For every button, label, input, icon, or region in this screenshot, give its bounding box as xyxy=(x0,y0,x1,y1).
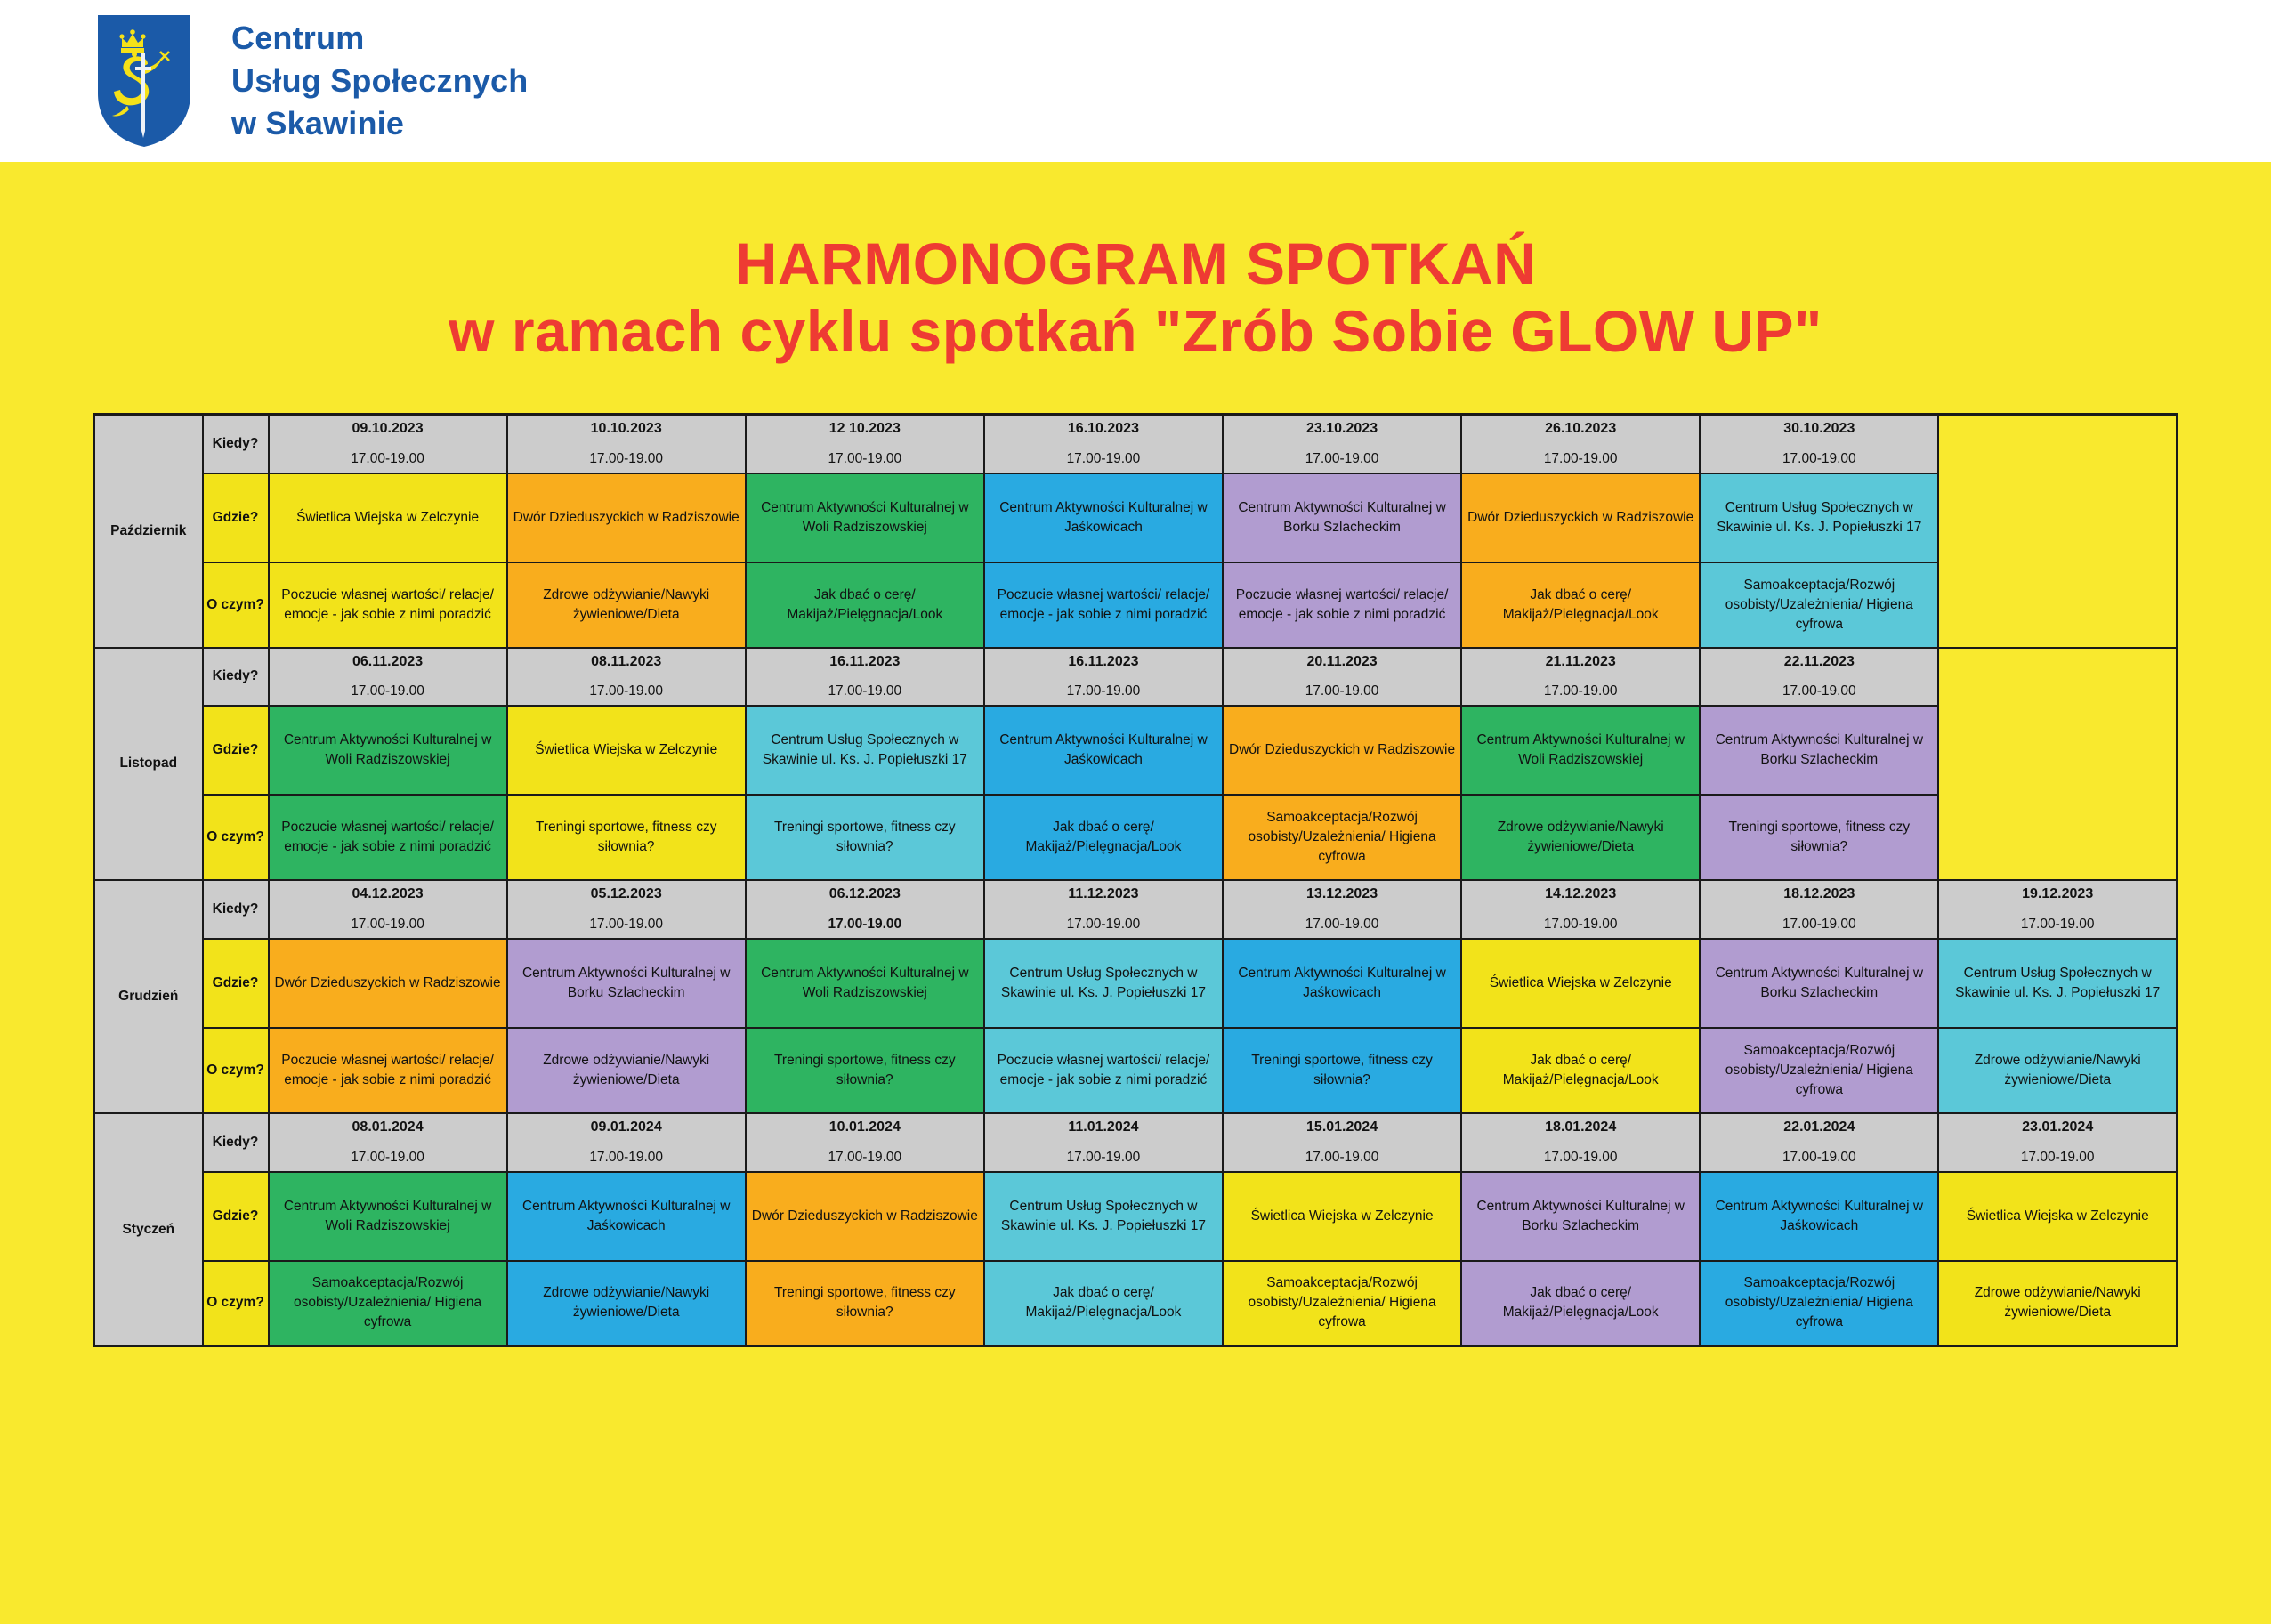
month-row-what: O czym?Poczucie własnej wartości/ relacj… xyxy=(94,795,2178,880)
topic-cell: Treningi sportowe, fitness czy siłownia? xyxy=(507,795,746,880)
date-time-cell: 12 10.202317.00-19.00 xyxy=(746,414,984,473)
date-time-cell: 18.12.202317.00-19.00 xyxy=(1700,880,1938,939)
topic-cell: Samoakceptacja/Rozwój osobisty/Uzależnie… xyxy=(269,1261,507,1346)
date-time-cell: 09.10.202317.00-19.00 xyxy=(269,414,507,473)
topic-cell: Jak dbać o cerę/ Makijaż/Pielęgnacja/Loo… xyxy=(1461,562,1700,648)
date-time-cell: 23.10.202317.00-19.00 xyxy=(1223,414,1461,473)
month-row-where: Gdzie?Centrum Aktywności Kulturalnej w W… xyxy=(94,1172,2178,1261)
topic-cell: Jak dbać o cerę/ Makijaż/Pielęgnacja/Loo… xyxy=(746,562,984,648)
location-cell: Świetlica Wiejska w Zelczynie xyxy=(1461,939,1700,1028)
session-time: 17.00-19.00 xyxy=(1703,1148,1935,1168)
topic-cell: Zdrowe odżywianie/Nawyki żywieniowe/Diet… xyxy=(507,1028,746,1113)
session-time: 17.00-19.00 xyxy=(1703,915,1935,934)
date-time-cell: 11.12.202317.00-19.00 xyxy=(984,880,1223,939)
date-time-cell: 13.12.202317.00-19.00 xyxy=(1223,880,1461,939)
location-cell: Centrum Aktywności Kulturalnej w Borku S… xyxy=(1700,706,1938,795)
session-time: 17.00-19.00 xyxy=(1465,1148,1696,1168)
location-cell: Świetlica Wiejska w Zelczynie xyxy=(507,706,746,795)
session-date: 18.01.2024 xyxy=(1465,1118,1696,1138)
topic-cell: Zdrowe odżywianie/Nawyki żywieniowe/Diet… xyxy=(1461,795,1700,880)
location-cell: Centrum Aktywności Kulturalnej w Woli Ra… xyxy=(269,1172,507,1261)
date-time-cell: 04.12.202317.00-19.00 xyxy=(269,880,507,939)
location-cell: Świetlica Wiejska w Zelczynie xyxy=(1938,1172,2177,1261)
page-header: Centrum Usług Społecznych w Skawinie xyxy=(0,0,2271,162)
topic-cell: Zdrowe odżywianie/Nawyki żywieniowe/Diet… xyxy=(1938,1028,2177,1113)
session-date: 11.12.2023 xyxy=(988,885,1219,905)
location-cell: Centrum Usług Społecznych w Skawinie ul.… xyxy=(746,706,984,795)
topic-cell: Jak dbać o cerę/ Makijaż/Pielęgnacja/Loo… xyxy=(984,1261,1223,1346)
row-label-where: Gdzie? xyxy=(203,706,269,795)
location-cell: Centrum Aktywności Kulturalnej w Borku S… xyxy=(1700,939,1938,1028)
session-date: 08.01.2024 xyxy=(272,1118,504,1138)
month-row-where: Gdzie?Świetlica Wiejska w ZelczynieDwór … xyxy=(94,473,2178,562)
page-title: HARMONOGRAM SPOTKAŃ w ramach cyklu spotk… xyxy=(0,162,2271,367)
topic-cell: Jak dbać o cerę/ Makijaż/Pielęgnacja/Loo… xyxy=(1461,1261,1700,1346)
session-time: 17.00-19.00 xyxy=(988,682,1219,701)
session-time: 17.00-19.00 xyxy=(1703,682,1935,701)
month-row-what: O czym?Poczucie własnej wartości/ relacj… xyxy=(94,1028,2178,1113)
date-time-cell: 11.01.202417.00-19.00 xyxy=(984,1113,1223,1172)
location-cell: Dwór Dzieduszyckich w Radziszowie xyxy=(269,939,507,1028)
date-time-cell: 20.11.202317.00-19.00 xyxy=(1223,648,1461,707)
location-cell: Centrum Usług Społecznych w Skawinie ul.… xyxy=(984,1172,1223,1261)
topic-cell: Poczucie własnej wartości/ relacje/ emoc… xyxy=(984,562,1223,648)
session-date: 15.01.2024 xyxy=(1226,1118,1458,1138)
topic-cell: Jak dbać o cerę/ Makijaż/Pielęgnacja/Loo… xyxy=(984,795,1223,880)
row-label-when: Kiedy? xyxy=(203,414,269,473)
session-date: 06.12.2023 xyxy=(749,885,981,905)
session-date: 26.10.2023 xyxy=(1465,419,1696,440)
empty-filler-cell xyxy=(1938,648,2177,881)
session-date: 16.11.2023 xyxy=(988,652,1219,673)
row-label-where: Gdzie? xyxy=(203,939,269,1028)
session-time: 17.00-19.00 xyxy=(749,449,981,469)
topic-cell: Samoakceptacja/Rozwój osobisty/Uzależnie… xyxy=(1700,1028,1938,1113)
session-date: 14.12.2023 xyxy=(1465,885,1696,905)
topic-cell: Poczucie własnej wartości/ relacje/ emoc… xyxy=(269,1028,507,1113)
location-cell: Centrum Usług Społecznych w Skawinie ul.… xyxy=(984,939,1223,1028)
org-line-3: w Skawinie xyxy=(231,102,528,145)
session-time: 17.00-19.00 xyxy=(749,1148,981,1168)
date-time-cell: 09.01.202417.00-19.00 xyxy=(507,1113,746,1172)
session-date: 22.01.2024 xyxy=(1703,1118,1935,1138)
location-cell: Świetlica Wiejska w Zelczynie xyxy=(269,473,507,562)
session-time: 17.00-19.00 xyxy=(1226,915,1458,934)
location-cell: Centrum Aktywności Kulturalnej w Borku S… xyxy=(507,939,746,1028)
logo-wrap: Centrum Usług Społecznych w Skawinie xyxy=(98,15,528,147)
organization-name: Centrum Usług Społecznych w Skawinie xyxy=(231,17,528,145)
location-cell: Dwór Dzieduszyckich w Radziszowie xyxy=(1223,706,1461,795)
date-time-cell: 16.11.202317.00-19.00 xyxy=(984,648,1223,707)
row-label-when: Kiedy? xyxy=(203,880,269,939)
date-time-cell: 14.12.202317.00-19.00 xyxy=(1461,880,1700,939)
session-time: 17.00-19.00 xyxy=(988,449,1219,469)
session-date: 22.11.2023 xyxy=(1703,652,1935,673)
session-time: 17.00-19.00 xyxy=(511,449,742,469)
session-time: 17.00-19.00 xyxy=(272,682,504,701)
topic-cell: Treningi sportowe, fitness czy siłownia? xyxy=(746,795,984,880)
date-time-cell: 21.11.202317.00-19.00 xyxy=(1461,648,1700,707)
location-cell: Dwór Dzieduszyckich w Radziszowie xyxy=(1461,473,1700,562)
month-row-what: O czym?Samoakceptacja/Rozwój osobisty/Uz… xyxy=(94,1261,2178,1346)
location-cell: Świetlica Wiejska w Zelczynie xyxy=(1223,1172,1461,1261)
session-date: 16.10.2023 xyxy=(988,419,1219,440)
date-time-cell: 22.01.202417.00-19.00 xyxy=(1700,1113,1938,1172)
session-time: 17.00-19.00 xyxy=(511,915,742,934)
date-time-cell: 08.11.202317.00-19.00 xyxy=(507,648,746,707)
session-time: 17.00-19.00 xyxy=(272,1148,504,1168)
location-cell: Centrum Aktywności Kulturalnej w Jaśkowi… xyxy=(507,1172,746,1261)
location-cell: Centrum Aktywności Kulturalnej w Jaśkowi… xyxy=(984,473,1223,562)
date-time-cell: 05.12.202317.00-19.00 xyxy=(507,880,746,939)
topic-cell: Poczucie własnej wartości/ relacje/ emoc… xyxy=(269,562,507,648)
date-time-cell: 19.12.202317.00-19.00 xyxy=(1938,880,2177,939)
session-time: 17.00-19.00 xyxy=(1465,449,1696,469)
session-time: 17.00-19.00 xyxy=(1465,682,1696,701)
session-date: 20.11.2023 xyxy=(1226,652,1458,673)
topic-cell: Samoakceptacja/Rozwój osobisty/Uzależnie… xyxy=(1223,795,1461,880)
session-time: 17.00-19.00 xyxy=(1942,1148,2173,1168)
topic-cell: Zdrowe odżywianie/Nawyki żywieniowe/Diet… xyxy=(1938,1261,2177,1346)
date-time-cell: 30.10.202317.00-19.00 xyxy=(1700,414,1938,473)
session-time: 17.00-19.00 xyxy=(1226,1148,1458,1168)
date-time-cell: 15.01.202417.00-19.00 xyxy=(1223,1113,1461,1172)
month-label-grudzień: Grudzień xyxy=(94,880,203,1113)
location-cell: Centrum Usług Społecznych w Skawinie ul.… xyxy=(1938,939,2177,1028)
session-date: 05.12.2023 xyxy=(511,885,742,905)
location-cell: Centrum Aktywności Kulturalnej w Woli Ra… xyxy=(1461,706,1700,795)
schedule-table: PaździernikKiedy?09.10.202317.00-19.0010… xyxy=(93,413,2178,1347)
location-cell: Centrum Aktywności Kulturalnej w Jaśkowi… xyxy=(984,706,1223,795)
location-cell: Centrum Aktywności Kulturalnej w Borku S… xyxy=(1461,1172,1700,1261)
month-row-where: Gdzie?Centrum Aktywności Kulturalnej w W… xyxy=(94,706,2178,795)
topic-cell: Poczucie własnej wartości/ relacje/ emoc… xyxy=(1223,562,1461,648)
session-time: 17.00-19.00 xyxy=(272,915,504,934)
session-time: 17.00-19.00 xyxy=(1226,682,1458,701)
date-time-cell: 16.10.202317.00-19.00 xyxy=(984,414,1223,473)
topic-cell: Poczucie własnej wartości/ relacje/ emoc… xyxy=(984,1028,1223,1113)
row-label-where: Gdzie? xyxy=(203,473,269,562)
session-time: 17.00-19.00 xyxy=(988,915,1219,934)
session-date: 13.12.2023 xyxy=(1226,885,1458,905)
date-time-cell: 10.01.202417.00-19.00 xyxy=(746,1113,984,1172)
topic-cell: Samoakceptacja/Rozwój osobisty/Uzależnie… xyxy=(1700,562,1938,648)
date-time-cell: 26.10.202317.00-19.00 xyxy=(1461,414,1700,473)
row-label-what: O czym? xyxy=(203,1028,269,1113)
topic-cell: Treningi sportowe, fitness czy siłownia? xyxy=(746,1261,984,1346)
month-row-when: ListopadKiedy?06.11.202317.00-19.0008.11… xyxy=(94,648,2178,707)
row-label-when: Kiedy? xyxy=(203,1113,269,1172)
session-date: 19.12.2023 xyxy=(1942,885,2173,905)
session-time: 17.00-19.00 xyxy=(1465,915,1696,934)
location-cell: Centrum Usług Społecznych w Skawinie ul.… xyxy=(1700,473,1938,562)
topic-cell: Treningi sportowe, fitness czy siłownia? xyxy=(746,1028,984,1113)
row-label-what: O czym? xyxy=(203,1261,269,1346)
session-date: 06.11.2023 xyxy=(272,652,504,673)
topic-cell: Poczucie własnej wartości/ relacje/ emoc… xyxy=(269,795,507,880)
row-label-where: Gdzie? xyxy=(203,1172,269,1261)
month-row-where: Gdzie?Dwór Dzieduszyckich w RadziszowieC… xyxy=(94,939,2178,1028)
topic-cell: Samoakceptacja/Rozwój osobisty/Uzależnie… xyxy=(1700,1261,1938,1346)
session-time: 17.00-19.00 xyxy=(511,1148,742,1168)
location-cell: Centrum Aktywności Kulturalnej w Woli Ra… xyxy=(269,706,507,795)
topic-cell: Treningi sportowe, fitness czy siłownia? xyxy=(1700,795,1938,880)
session-date: 23.01.2024 xyxy=(1942,1118,2173,1138)
location-cell: Dwór Dzieduszyckich w Radziszowie xyxy=(746,1172,984,1261)
topic-cell: Zdrowe odżywianie/Nawyki żywieniowe/Diet… xyxy=(507,562,746,648)
session-time: 17.00-19.00 xyxy=(1942,915,2173,934)
date-time-cell: 22.11.202317.00-19.00 xyxy=(1700,648,1938,707)
org-line-2: Usług Społecznych xyxy=(231,60,528,102)
session-time: 17.00-19.00 xyxy=(272,449,504,469)
schedule-table-wrap: PaździernikKiedy?09.10.202317.00-19.0010… xyxy=(0,367,2271,1347)
date-time-cell: 23.01.202417.00-19.00 xyxy=(1938,1113,2177,1172)
location-cell: Centrum Aktywności Kulturalnej w Jaśkowi… xyxy=(1700,1172,1938,1261)
session-date: 10.10.2023 xyxy=(511,419,742,440)
session-date: 18.12.2023 xyxy=(1703,885,1935,905)
session-date: 16.11.2023 xyxy=(749,652,981,673)
topic-cell: Samoakceptacja/Rozwój osobisty/Uzależnie… xyxy=(1223,1261,1461,1346)
month-row-when: GrudzieńKiedy?04.12.202317.00-19.0005.12… xyxy=(94,880,2178,939)
date-time-cell: 18.01.202417.00-19.00 xyxy=(1461,1113,1700,1172)
empty-filler-cell xyxy=(1938,414,2177,647)
topic-cell: Jak dbać o cerę/ Makijaż/Pielęgnacja/Loo… xyxy=(1461,1028,1700,1113)
session-date: 11.01.2024 xyxy=(988,1118,1219,1138)
session-date: 09.10.2023 xyxy=(272,419,504,440)
session-date: 30.10.2023 xyxy=(1703,419,1935,440)
location-cell: Dwór Dzieduszyckich w Radziszowie xyxy=(507,473,746,562)
session-time: 17.00-19.00 xyxy=(1703,449,1935,469)
session-time: 17.00-19.00 xyxy=(749,682,981,701)
session-date: 23.10.2023 xyxy=(1226,419,1458,440)
session-date: 12 10.2023 xyxy=(749,419,981,440)
month-label-październik: Październik xyxy=(94,414,203,647)
location-cell: Centrum Aktywności Kulturalnej w Jaśkowi… xyxy=(1223,939,1461,1028)
month-row-what: O czym?Poczucie własnej wartości/ relacj… xyxy=(94,562,2178,648)
topic-cell: Zdrowe odżywianie/Nawyki żywieniowe/Diet… xyxy=(507,1261,746,1346)
date-time-cell: 16.11.202317.00-19.00 xyxy=(746,648,984,707)
date-time-cell: 06.12.202317.00-19.00 xyxy=(746,880,984,939)
session-date: 10.01.2024 xyxy=(749,1118,981,1138)
location-cell: Centrum Aktywności Kulturalnej w Borku S… xyxy=(1223,473,1461,562)
row-label-what: O czym? xyxy=(203,562,269,648)
topic-cell: Treningi sportowe, fitness czy siłownia? xyxy=(1223,1028,1461,1113)
month-row-when: StyczeńKiedy?08.01.202417.00-19.0009.01.… xyxy=(94,1113,2178,1172)
session-time: 17.00-19.00 xyxy=(1226,449,1458,469)
date-time-cell: 10.10.202317.00-19.00 xyxy=(507,414,746,473)
location-cell: Centrum Aktywności Kulturalnej w Woli Ra… xyxy=(746,939,984,1028)
date-time-cell: 08.01.202417.00-19.00 xyxy=(269,1113,507,1172)
title-line-2: w ramach cyklu spotkań "Zrób Sobie GLOW … xyxy=(0,297,2271,367)
session-date: 21.11.2023 xyxy=(1465,652,1696,673)
session-date: 09.01.2024 xyxy=(511,1118,742,1138)
session-time: 17.00-19.00 xyxy=(749,915,981,934)
month-label-listopad: Listopad xyxy=(94,648,203,881)
session-date: 04.12.2023 xyxy=(272,885,504,905)
session-time: 17.00-19.00 xyxy=(988,1148,1219,1168)
org-line-1: Centrum xyxy=(231,17,528,60)
row-label-when: Kiedy? xyxy=(203,648,269,707)
month-row-when: PaździernikKiedy?09.10.202317.00-19.0010… xyxy=(94,414,2178,473)
row-label-what: O czym? xyxy=(203,795,269,880)
skawina-coat-of-arms-icon xyxy=(98,15,190,147)
date-time-cell: 06.11.202317.00-19.00 xyxy=(269,648,507,707)
session-time: 17.00-19.00 xyxy=(511,682,742,701)
session-date: 08.11.2023 xyxy=(511,652,742,673)
month-label-styczeń: Styczeń xyxy=(94,1113,203,1346)
title-line-1: HARMONOGRAM SPOTKAŃ xyxy=(0,231,2271,297)
location-cell: Centrum Aktywności Kulturalnej w Woli Ra… xyxy=(746,473,984,562)
